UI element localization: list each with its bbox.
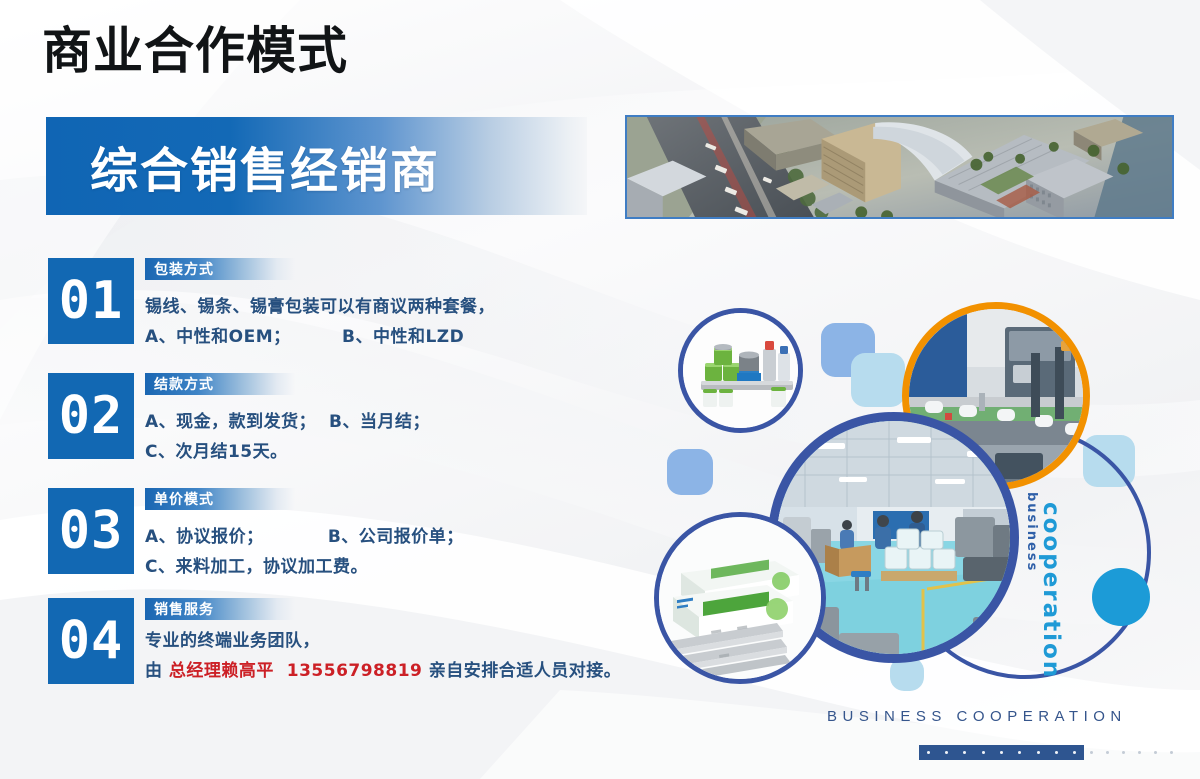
item-number-badge: 02 bbox=[48, 373, 134, 459]
solder-products-illustration bbox=[683, 313, 803, 433]
item-category-badge: 结款方式 bbox=[145, 373, 295, 395]
aerial-campus-photo bbox=[625, 115, 1174, 219]
item-line: A、协议报价； B、公司报价单； bbox=[145, 522, 615, 552]
footer-dots-faded bbox=[1084, 745, 1179, 760]
item-category-label: 单价模式 bbox=[154, 489, 214, 509]
banner-bar: 综合销售经销商 bbox=[46, 117, 587, 215]
item-content: 销售服务 专业的终端业务团队， 由 总经理赖高平 13556798819 亲自安… bbox=[145, 598, 665, 686]
item-content: 结款方式 A、现金，款到发货； B、当月结； C、次月结15天。 bbox=[145, 373, 615, 467]
item-line: C、次月结15天。 bbox=[145, 437, 615, 467]
vertical-label-business: business bbox=[1024, 492, 1039, 572]
banner-title: 综合销售经销商 bbox=[90, 131, 440, 201]
solder-products-photo bbox=[678, 308, 803, 433]
poster-canvas: 商业合作模式 综合销售经销商 bbox=[0, 0, 1200, 779]
item-line: C、来料加工，协议加工费。 bbox=[145, 552, 615, 582]
item-category-badge: 销售服务 bbox=[145, 598, 295, 620]
packaging-illustration bbox=[659, 517, 826, 684]
footer-dotbar-faded bbox=[1084, 745, 1179, 760]
item-lines: 锡线、锡条、锡膏包装可以有商议两种套餐， A、中性和OEM； B、中性和LZD bbox=[145, 292, 615, 352]
item-line: A、现金，款到发货； B、当月结； bbox=[145, 407, 615, 437]
aerial-campus-illustration bbox=[627, 117, 1172, 219]
item-lines: A、现金，款到发货； B、当月结； C、次月结15天。 bbox=[145, 407, 615, 467]
item-line: 专业的终端业务团队， bbox=[145, 626, 665, 656]
item-line-contact: 由 总经理赖高平 13556798819 亲自安排合适人员对接。 bbox=[145, 656, 665, 686]
item-content: 包装方式 锡线、锡条、锡膏包装可以有商议两种套餐， A、中性和OEM； B、中性… bbox=[145, 258, 615, 352]
page-title: 商业合作模式 bbox=[42, 24, 348, 79]
item-number-badge: 01 bbox=[48, 258, 134, 344]
contact-suffix: 亲自安排合适人员对接。 bbox=[422, 661, 621, 681]
item-lines: 专业的终端业务团队， 由 总经理赖高平 13556798819 亲自安排合适人员… bbox=[145, 626, 665, 686]
contact-prefix: 由 bbox=[145, 661, 169, 681]
footer-dots bbox=[919, 745, 1084, 760]
item-lines: A、协议报价； B、公司报价单； C、来料加工，协议加工费。 bbox=[145, 522, 615, 582]
decor-square-blue bbox=[667, 449, 713, 495]
item-category-label: 包装方式 bbox=[154, 259, 214, 279]
decor-circle-cyan bbox=[1092, 568, 1150, 626]
footer-dotbar-filled bbox=[919, 745, 1084, 760]
item-line: 锡线、锡条、锡膏包装可以有商议两种套餐， bbox=[145, 292, 615, 322]
item-number-badge: 04 bbox=[48, 598, 134, 684]
item-number-badge: 03 bbox=[48, 488, 134, 574]
item-line: A、中性和OEM； B、中性和LZD bbox=[145, 322, 615, 352]
item-category-badge: 单价模式 bbox=[145, 488, 295, 510]
vertical-label-cooperation: cooperation bbox=[1038, 502, 1064, 679]
decor-square-lightblue bbox=[851, 353, 905, 407]
photo-collage: business cooperation bbox=[640, 280, 1200, 700]
packaging-photo bbox=[654, 512, 826, 684]
contact-highlight: 总经理赖高平 13556798819 bbox=[169, 661, 422, 681]
item-category-label: 结款方式 bbox=[154, 374, 214, 394]
footer-caption: BUSINESS COOPERATION bbox=[827, 708, 1127, 725]
item-category-label: 销售服务 bbox=[154, 599, 214, 619]
item-category-badge: 包装方式 bbox=[145, 258, 295, 280]
item-content: 单价模式 A、协议报价； B、公司报价单； C、来料加工，协议加工费。 bbox=[145, 488, 615, 582]
